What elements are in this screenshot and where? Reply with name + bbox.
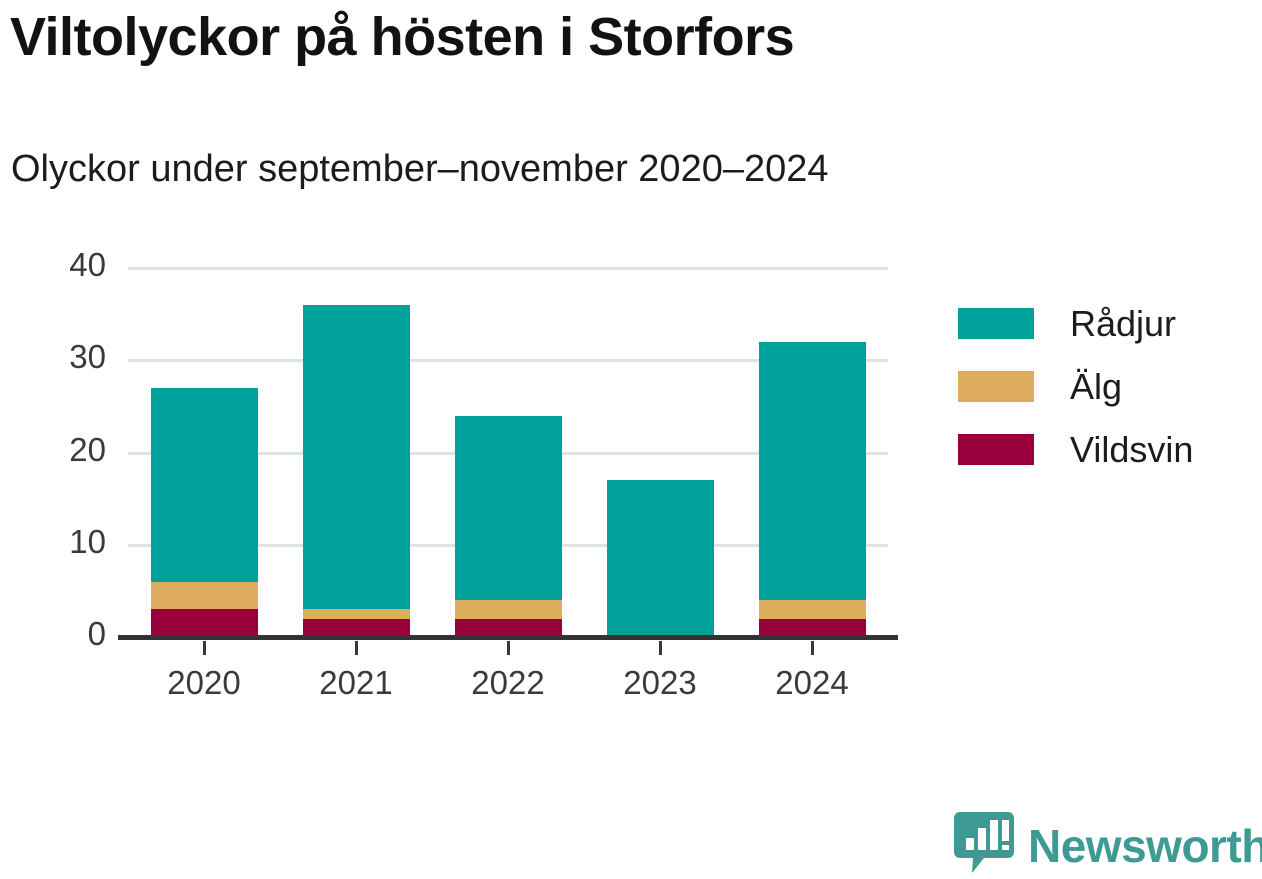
legend-item-älg[interactable]: Älg <box>958 355 1193 418</box>
legend-label: Älg <box>1070 366 1122 408</box>
bar-2023[interactable] <box>607 480 714 637</box>
bar-segment-älg-2024[interactable] <box>759 600 866 618</box>
bar-segment-älg-2021[interactable] <box>303 609 410 618</box>
bar-segment-rådjur-2021[interactable] <box>303 305 410 609</box>
bar-chart-speech-bubble-icon <box>954 812 1014 879</box>
bar-segment-rådjur-2020[interactable] <box>151 388 258 582</box>
y-axis-tick-label: 40 <box>16 246 106 284</box>
x-axis-tick-mark <box>507 641 510 655</box>
bar-2022[interactable] <box>455 416 562 637</box>
chart-legend: RådjurÄlgVildsvin <box>958 292 1193 481</box>
x-axis-tick-label-2024: 2024 <box>737 664 887 702</box>
newsworthy-logo: Newsworthy <box>954 812 1262 879</box>
bar-segment-rådjur-2022[interactable] <box>455 416 562 601</box>
bar-2024[interactable] <box>759 342 866 637</box>
legend-label: Rådjur <box>1070 303 1176 345</box>
legend-label: Vildsvin <box>1070 429 1193 471</box>
legend-item-vildsvin[interactable]: Vildsvin <box>958 418 1193 481</box>
bar-segment-rådjur-2024[interactable] <box>759 342 866 600</box>
legend-item-rådjur[interactable]: Rådjur <box>958 292 1193 355</box>
x-axis-tick-label-2021: 2021 <box>281 664 431 702</box>
bar-2020[interactable] <box>151 388 258 637</box>
x-axis-tick-mark <box>659 641 662 655</box>
x-axis-tick-mark <box>203 641 206 655</box>
legend-swatch-vildsvin <box>958 434 1034 465</box>
y-axis-tick-label: 30 <box>16 338 106 376</box>
bar-segment-vildsvin-2020[interactable] <box>151 609 258 637</box>
gridline-40 <box>128 267 888 270</box>
x-axis-line <box>118 635 898 640</box>
y-axis-tick-label: 20 <box>16 431 106 469</box>
bar-segment-älg-2022[interactable] <box>455 600 562 618</box>
logo-wordmark: Newsworthy <box>1028 819 1262 873</box>
x-axis-tick-label-2022: 2022 <box>433 664 583 702</box>
legend-swatch-älg <box>958 371 1034 402</box>
x-axis-tick-mark <box>355 641 358 655</box>
x-axis-tick-mark <box>811 641 814 655</box>
bar-2021[interactable] <box>303 305 410 637</box>
x-axis-tick-label-2020: 2020 <box>129 664 279 702</box>
y-axis-tick-label: 0 <box>16 615 106 653</box>
bar-segment-rådjur-2023[interactable] <box>607 480 714 637</box>
bar-segment-älg-2020[interactable] <box>151 582 258 610</box>
x-axis-tick-label-2023: 2023 <box>585 664 735 702</box>
legend-swatch-rådjur <box>958 308 1034 339</box>
y-axis-tick-label: 10 <box>16 523 106 561</box>
